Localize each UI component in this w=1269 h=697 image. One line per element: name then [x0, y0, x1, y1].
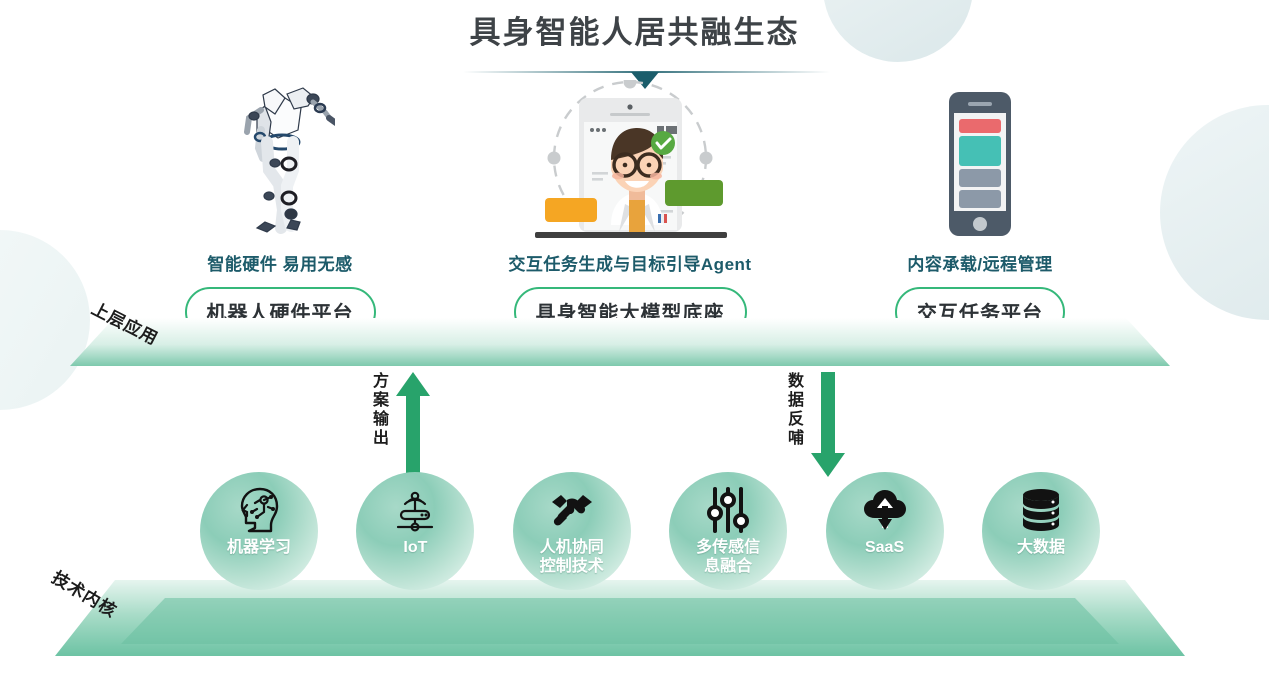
- application-caption: 智能硬件 易用无感: [170, 250, 390, 275]
- technology-node-sensor-fusion[interactable]: 多传感信 息融合: [669, 472, 787, 590]
- infographic-canvas: 具身智能人居共融生态: [0, 0, 1269, 697]
- technology-node-label: 多传感信 息融合: [696, 538, 760, 576]
- application-caption: 交互任务生成与目标引导Agent: [470, 250, 790, 275]
- technology-node-iot[interactable]: IoT: [356, 472, 474, 590]
- smartphone-icon: [880, 80, 1080, 240]
- technology-node-human-machine-control[interactable]: 人机协同 控制技术: [513, 472, 631, 590]
- application-column-agent: 交互任务生成与目标引导Agent 具身智能大模型底座: [470, 80, 790, 337]
- technology-node-label: IoT: [403, 538, 427, 557]
- database-stack-icon: [1019, 486, 1063, 534]
- router-antenna-icon: [392, 486, 438, 534]
- technology-node-label: 人机协同 控制技术: [540, 538, 604, 576]
- application-column-phone: 内容承载/远程管理 交互任务平台: [880, 80, 1080, 337]
- flow-label: 数据反哺: [783, 372, 803, 448]
- application-column-robot: 智能硬件 易用无感 机器人硬件平台: [170, 80, 390, 337]
- handshake-icon: [548, 486, 596, 534]
- sliders-icon: [706, 486, 750, 534]
- flow-data-feedback: 数据反哺: [783, 372, 845, 477]
- arrow-up-icon: [396, 372, 430, 477]
- technology-node-label: SaaS: [865, 538, 904, 557]
- technology-node-big-data[interactable]: 大数据: [982, 472, 1100, 590]
- technology-node-label: 大数据: [1017, 538, 1065, 557]
- background-circle-right: [1160, 105, 1269, 320]
- technology-node-row: 机器学习 IoT: [200, 472, 1100, 590]
- application-caption: 内容承载/远程管理: [880, 250, 1080, 275]
- page-title: 具身智能人居共融生态: [0, 12, 1269, 54]
- agent-assistant-icon: [470, 80, 790, 240]
- flow-solution-output: 方案输出: [368, 372, 430, 477]
- flow-label: 方案输出: [368, 372, 388, 448]
- technology-node-saas[interactable]: SaaS: [826, 472, 944, 590]
- ai-head-circuit-icon: [237, 486, 281, 534]
- technology-node-label: 机器学习: [227, 538, 291, 557]
- technology-node-machine-learning[interactable]: 机器学习: [200, 472, 318, 590]
- arrow-down-icon: [811, 372, 845, 477]
- upper-layer-platform: [70, 318, 1170, 366]
- core-layer-platform: [55, 580, 1185, 656]
- title-block: 具身智能人居共融生态: [0, 12, 1269, 54]
- humanoid-robot-icon: [170, 80, 390, 240]
- cloud-sync-icon: [861, 486, 909, 534]
